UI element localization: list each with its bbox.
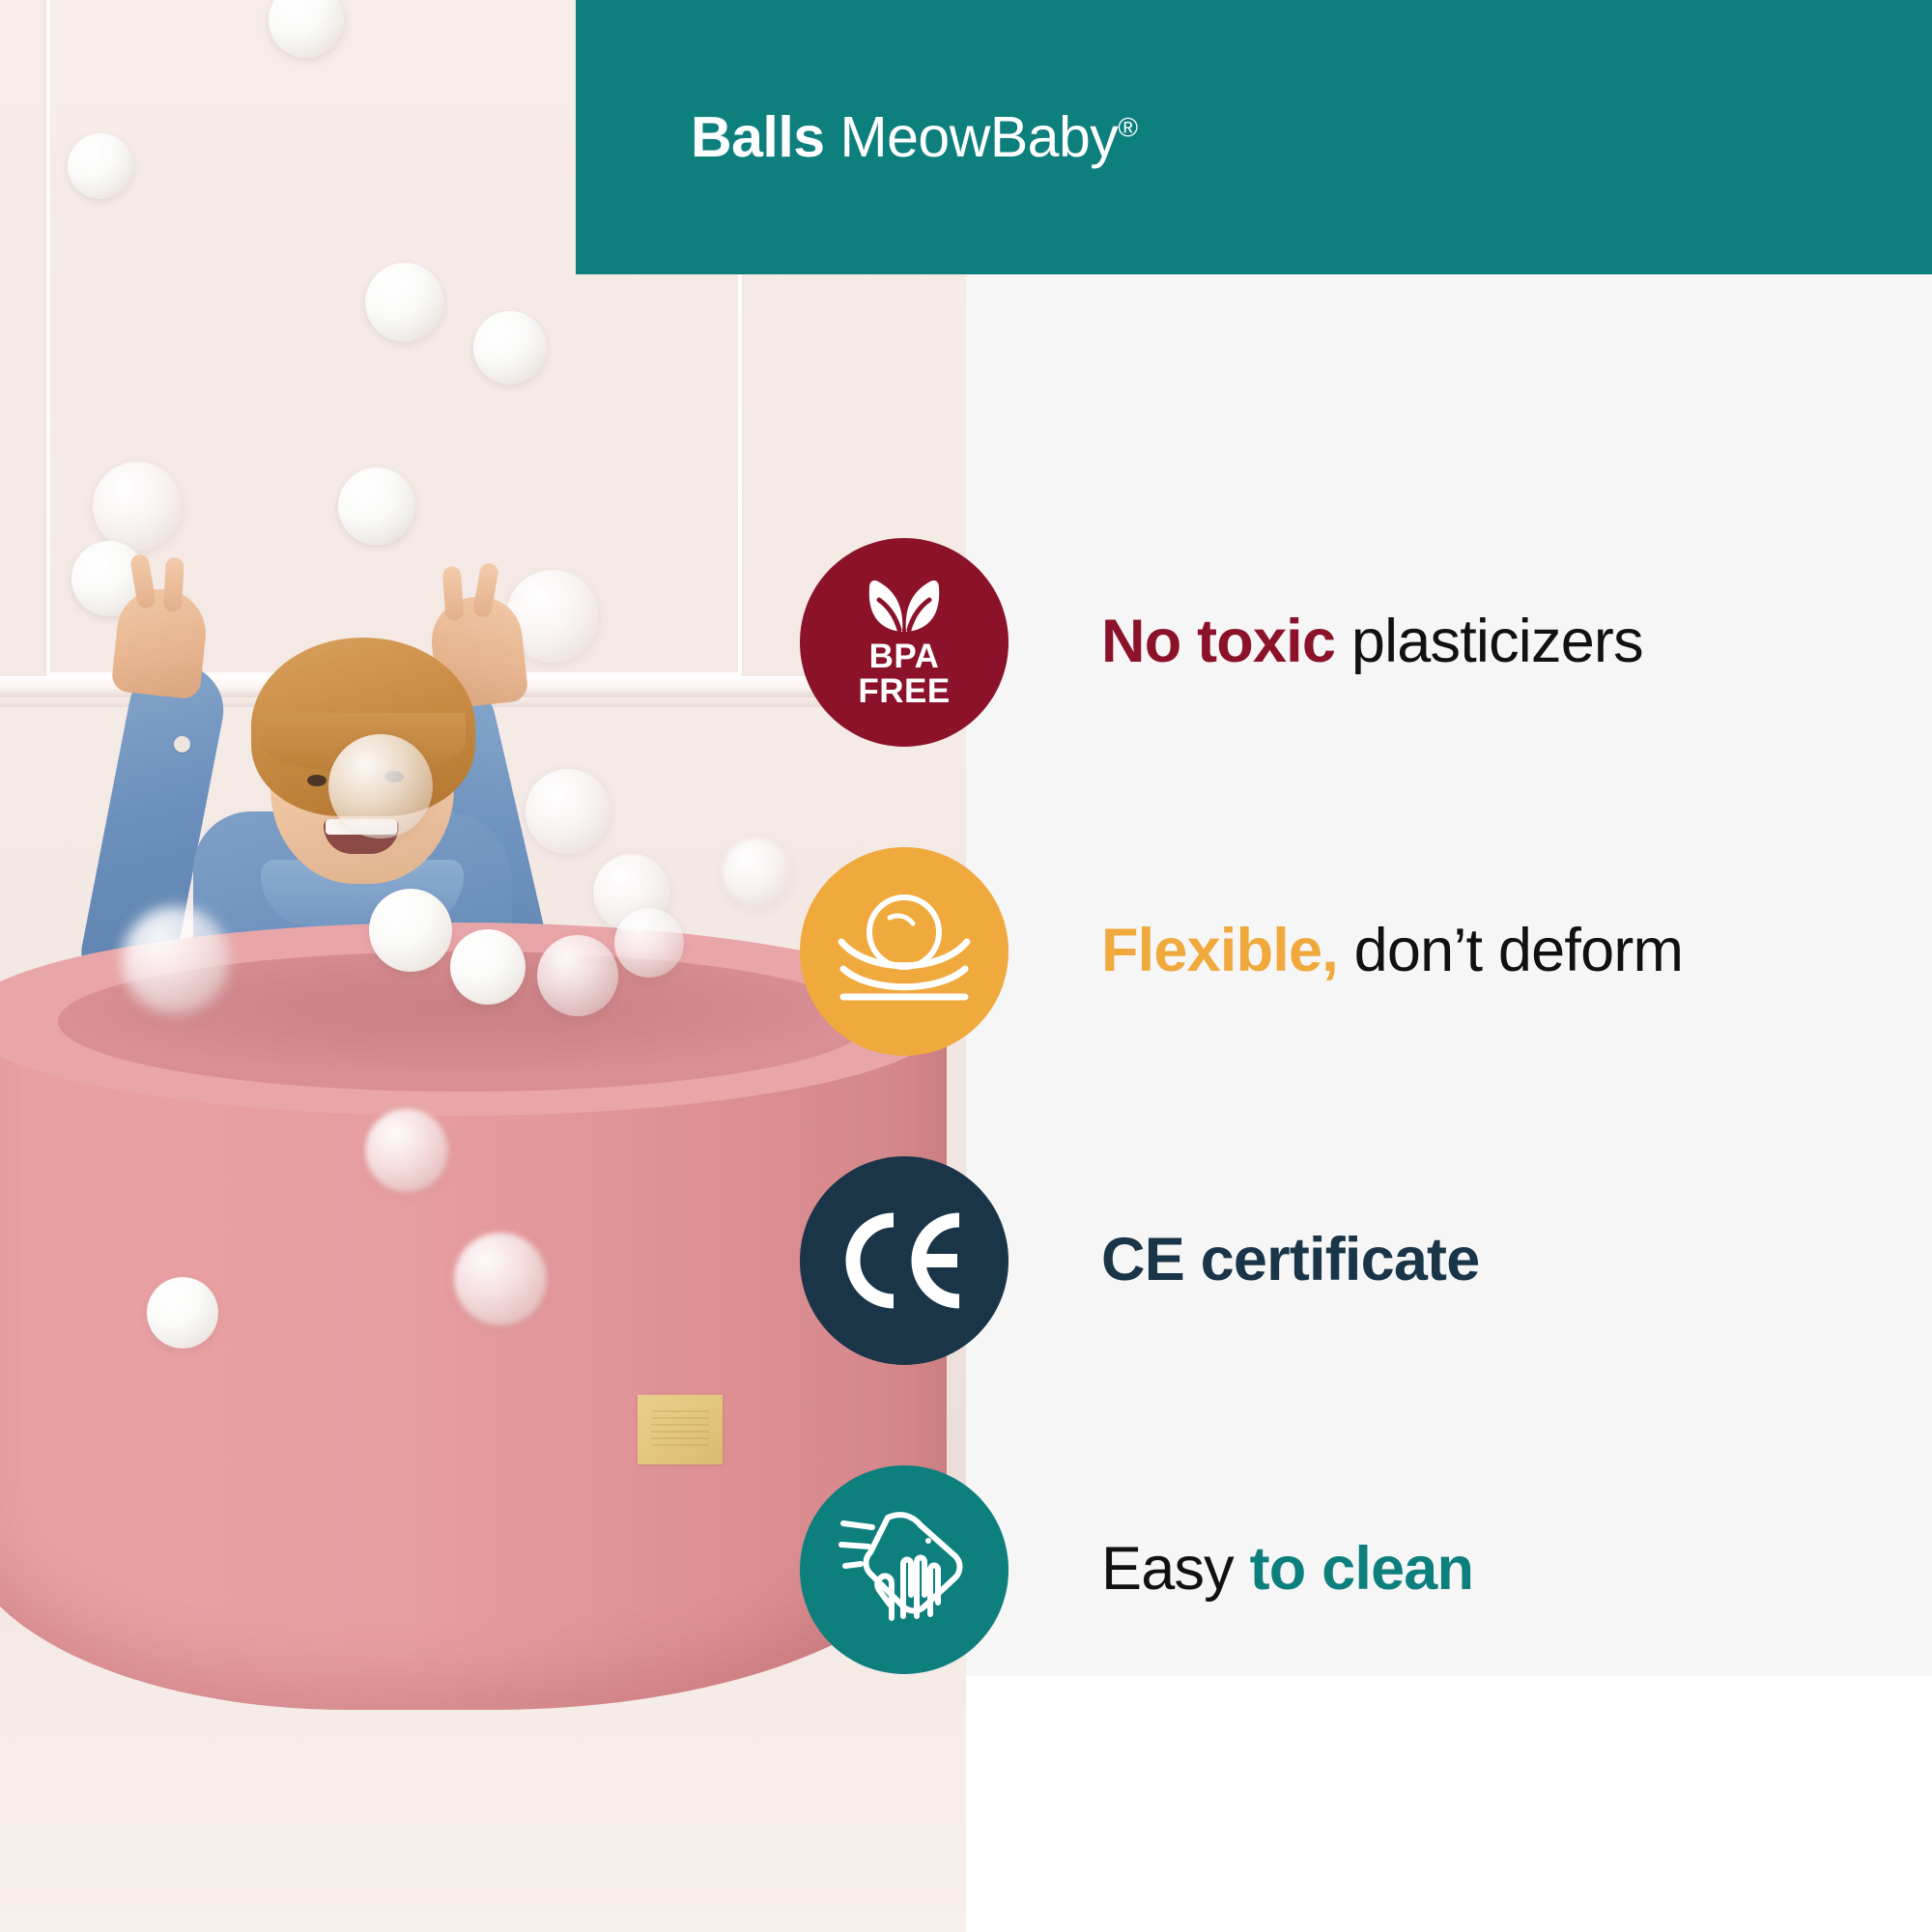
brand-label-patch (638, 1395, 723, 1464)
bpa-free-badge: BPA FREE (800, 538, 1009, 747)
bpa-badge-text: BPA FREE (858, 639, 950, 708)
ball (537, 935, 618, 1016)
child-eye (307, 775, 327, 786)
sleeve-button (174, 736, 190, 753)
ball (365, 263, 444, 342)
ball (122, 906, 230, 1014)
ball (68, 133, 133, 199)
feature-highlight: CE certificate (1101, 1226, 1479, 1293)
ball (365, 1109, 448, 1192)
page-title: Balls MeowBaby® (691, 109, 1137, 166)
bpa-line-2: FREE (858, 674, 950, 709)
feature-rest: Easy (1101, 1535, 1250, 1603)
ball (328, 734, 433, 838)
feature-item-ce: CE certificate (800, 1140, 1862, 1381)
easy-clean-badge (800, 1465, 1009, 1674)
title-bold: Balls (691, 105, 825, 169)
ball (473, 311, 547, 384)
feature-item-flexible: Flexible, don’t deform (800, 831, 1862, 1072)
ce-badge (800, 1156, 1009, 1365)
ball-on-waves-icon (832, 889, 977, 1014)
ball (614, 908, 684, 978)
ball (450, 929, 526, 1005)
registered-mark-icon: ® (1118, 112, 1137, 142)
hand-wiping-cloth-icon (832, 1502, 977, 1637)
flexible-badge (800, 847, 1009, 1056)
feature-rest: plasticizers (1335, 608, 1643, 675)
feature-highlight: to clean (1250, 1535, 1474, 1603)
feature-text-easy-clean: Easy to clean (1101, 1534, 1473, 1605)
ball (338, 468, 415, 545)
ball (723, 838, 790, 906)
child-left-hand (111, 584, 211, 699)
ball (147, 1277, 218, 1349)
ball (93, 462, 182, 551)
ce-mark-icon (841, 1212, 967, 1309)
feature-text-flexible: Flexible, don’t deform (1101, 916, 1683, 986)
ball (454, 1233, 547, 1325)
feature-text-no-toxic: No toxic plasticizers (1101, 607, 1643, 677)
promo-banner: Balls MeowBaby® BPA FREE (0, 0, 1932, 1932)
feature-item-no-toxic: BPA FREE No toxic plasticizers (800, 522, 1862, 763)
feature-item-easy-clean: Easy to clean (800, 1449, 1862, 1690)
bpa-line-1: BPA (858, 639, 950, 674)
bpa-free-leaf-icon (860, 576, 949, 636)
header-bar: Balls MeowBaby® (576, 0, 1932, 274)
title-light: MeowBaby (839, 105, 1118, 169)
feature-highlight: No toxic (1101, 608, 1335, 675)
ball (369, 889, 452, 972)
feature-highlight: Flexible, (1101, 917, 1338, 984)
feature-rest: don’t deform (1338, 917, 1683, 984)
feature-text-ce: CE certificate (1101, 1225, 1479, 1295)
ball (526, 769, 611, 854)
